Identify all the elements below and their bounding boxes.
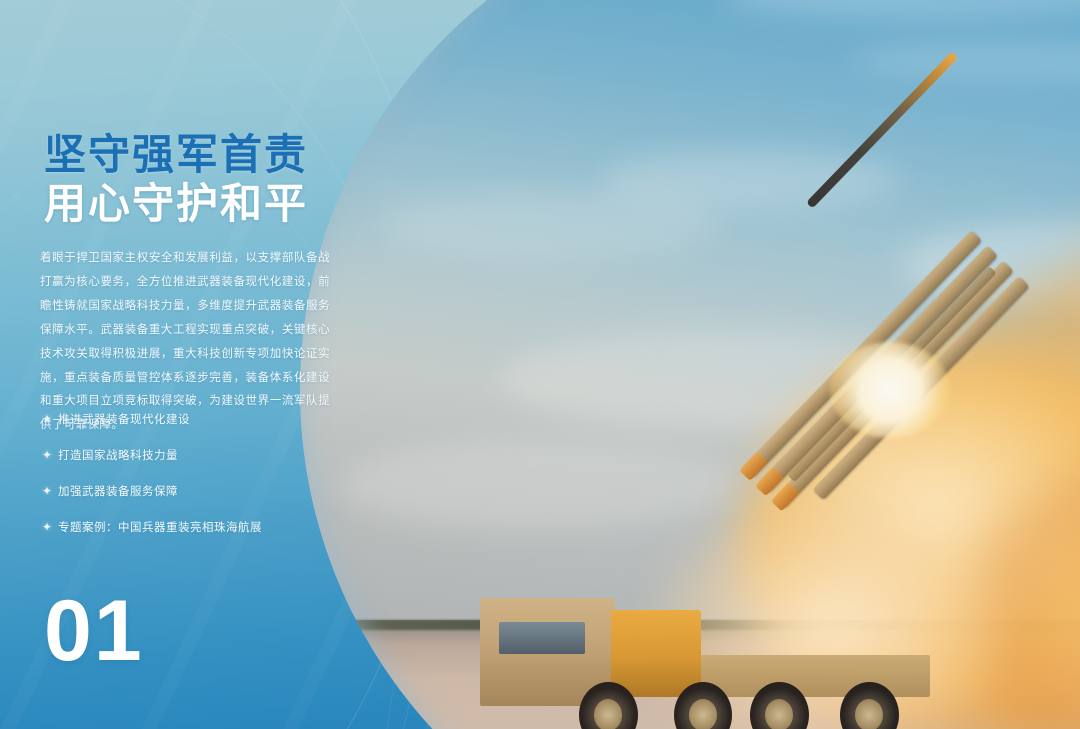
sparkle-icon: ✦	[42, 449, 58, 461]
cloud	[340, 440, 740, 530]
photo-canvas	[300, 0, 1080, 729]
list-item[interactable]: ✦ 加强武器装备服务保障	[42, 477, 342, 504]
carrier-truck	[480, 595, 930, 729]
list-item-label: 加强武器装备服务保障	[58, 483, 178, 499]
headline-line-1: 坚守强军首责	[44, 131, 344, 180]
list-item-label: 推进武器装备现代化建设	[58, 411, 190, 427]
sparkle-icon: ✦	[42, 413, 58, 425]
list-item[interactable]: ✦ 打造国家战略科技力量	[42, 441, 342, 468]
list-item[interactable]: ✦ 专题案例：中国兵器重装亮相珠海航展	[42, 513, 342, 540]
cloud	[380, 190, 720, 260]
page-title: 坚守强军首责 用心守护和平	[44, 131, 344, 228]
slide-root: 坚守强军首责 用心守护和平 着眼于捍卫国家主权安全和发展利益，以支撑部队备战打赢…	[0, 0, 1080, 729]
section-number: 01	[44, 588, 144, 674]
list-item-label: 打造国家战略科技力量	[58, 447, 178, 463]
sparkle-icon: ✦	[42, 485, 58, 497]
list-item[interactable]: ✦ 推进武器装备现代化建设	[42, 405, 342, 432]
cab-window	[499, 622, 585, 654]
hero-photo	[300, 0, 1080, 729]
truck-hood	[611, 610, 701, 697]
text-panel: 坚守强军首责 用心守护和平 着眼于捍卫国家主权安全和发展利益，以支撑部队备战打赢…	[0, 0, 360, 729]
muzzle-flash-core	[830, 342, 950, 438]
sparkle-icon: ✦	[42, 521, 58, 533]
headline-line-2: 用心守护和平	[44, 180, 344, 229]
bullet-list: ✦ 推进武器装备现代化建设 ✦ 打造国家战略科技力量 ✦ 加强武器装备服务保障 …	[42, 405, 342, 549]
list-item-label: 专题案例：中国兵器重装亮相珠海航展	[58, 519, 262, 535]
